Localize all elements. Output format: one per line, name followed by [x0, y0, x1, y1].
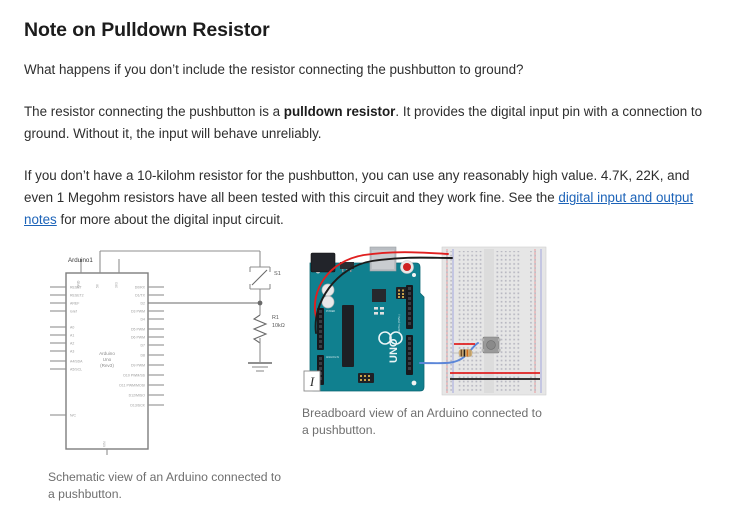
svg-text:A3: A3	[70, 350, 74, 354]
icsp-header-bottom	[358, 373, 374, 383]
microcontroller-chip	[342, 305, 354, 367]
page-title: Note on Pulldown Resistor	[24, 19, 714, 42]
svg-text:D4: D4	[141, 318, 146, 322]
schematic-caption: Schematic view of an Arduino connected t…	[48, 469, 288, 503]
svg-text:VIN: VIN	[103, 441, 107, 447]
svg-text:D10 PWM/SS: D10 PWM/SS	[123, 374, 145, 378]
svg-text:Arduino: Arduino	[99, 351, 115, 356]
paragraph-question-text: What happens if you don’t include the re…	[24, 62, 524, 77]
watermark-letter: I	[309, 374, 315, 389]
paragraph-pulldown-lead: The resistor connecting the pushbutton i…	[24, 104, 284, 119]
svg-text:D2: D2	[141, 302, 146, 306]
svg-text:D6 PWM: D6 PWM	[131, 336, 145, 340]
paragraph-pulldown: The resistor connecting the pushbutton i…	[24, 101, 714, 145]
svg-text:3V3: 3V3	[115, 282, 119, 288]
figure-breadboard: UNO POWER ANALOG IN DIGITAL (PWM~)	[302, 245, 560, 439]
svg-text:POWER: POWER	[326, 310, 335, 313]
power-header	[317, 308, 324, 350]
svg-text:A4/SDA: A4/SDA	[70, 360, 83, 364]
svg-text:D3 PWM: D3 PWM	[131, 310, 145, 314]
paragraph-resistor-values: If you don’t have a 10-kilohm resistor f…	[24, 165, 714, 231]
article-page: Note on Pulldown Resistor What happens i…	[0, 0, 738, 505]
fritzing-watermark-icon: I	[304, 371, 320, 391]
schematic-junction-dot	[258, 301, 263, 306]
svg-text:D7: D7	[141, 344, 146, 348]
article-content: Note on Pulldown Resistor What happens i…	[0, 0, 738, 515]
figure-schematic: Arduino1 S1 R1 10kΩ RESET RESET2 AREF io…	[48, 245, 298, 503]
svg-text:(Rev3): (Rev3)	[100, 363, 114, 368]
svg-text:N/C: N/C	[70, 414, 77, 418]
figures-row: Arduino1 S1 R1 10kΩ RESET RESET2 AREF io…	[24, 245, 714, 515]
svg-text:A2: A2	[70, 342, 74, 346]
paragraph-question: What happens if you don’t include the re…	[24, 59, 714, 81]
pushbutton-component	[482, 337, 501, 353]
svg-text:A1: A1	[70, 334, 74, 338]
pulldown-resistor-emphasis: pulldown resistor	[284, 104, 396, 119]
arduino-uno-silk: UNO	[388, 339, 400, 364]
svg-text:D1/TX: D1/TX	[135, 294, 146, 298]
breadboard-caption: Breadboard view of an Arduino connected …	[302, 405, 542, 439]
svg-text:D13/SCK: D13/SCK	[130, 404, 145, 408]
arduino-board: UNO POWER ANALOG IN DIGITAL (PWM~)	[310, 247, 424, 391]
svg-text:RESET2: RESET2	[70, 294, 84, 298]
breadboard-image: UNO POWER ANALOG IN DIGITAL (PWM~)	[302, 245, 550, 397]
svg-text:DIGITAL (PWM~): DIGITAL (PWM~)	[398, 315, 401, 334]
svg-text:AREF: AREF	[70, 302, 79, 306]
schematic-image: Arduino1 S1 R1 10kΩ RESET RESET2 AREF io…	[48, 245, 298, 455]
svg-text:D12/MISO: D12/MISO	[129, 394, 146, 398]
svg-text:A0: A0	[70, 326, 74, 330]
svg-text:GND: GND	[77, 280, 81, 288]
svg-text:D9 PWM: D9 PWM	[131, 364, 145, 368]
schematic-board-label: Arduino1	[68, 257, 93, 264]
svg-text:ioref: ioref	[70, 310, 77, 314]
schematic-resistor-value: 10kΩ	[272, 323, 285, 329]
svg-text:D5 PWM: D5 PWM	[131, 328, 145, 332]
paragraph-values-tail: for more about the digital input circuit…	[57, 212, 284, 227]
svg-text:ANALOG IN: ANALOG IN	[326, 356, 339, 359]
svg-text:D8: D8	[141, 354, 146, 358]
schematic-switch-label: S1	[274, 271, 281, 277]
svg-text:D0/RX: D0/RX	[135, 286, 146, 290]
svg-text:Uno: Uno	[103, 357, 112, 362]
schematic-resistor-ref: R1	[272, 315, 279, 321]
reset-button	[403, 263, 411, 271]
svg-text:D11 PWM/MOSI: D11 PWM/MOSI	[119, 384, 145, 388]
svg-text:A5/SCL: A5/SCL	[70, 368, 82, 372]
